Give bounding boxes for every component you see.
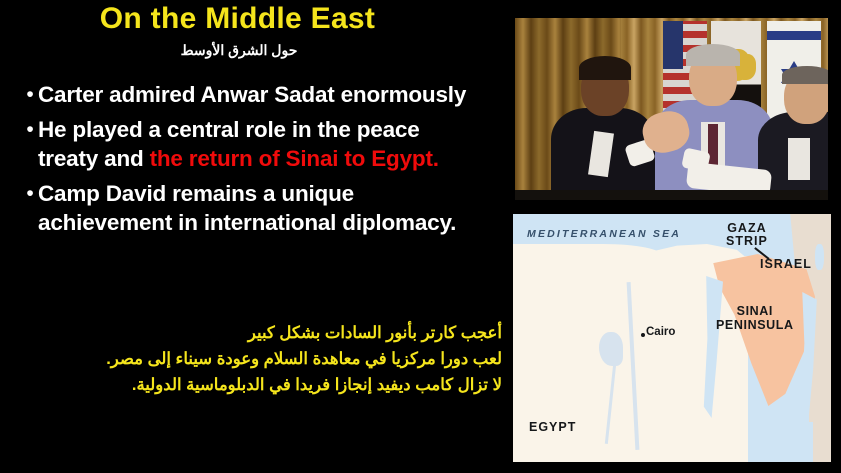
list-item: • Carter admired Anwar Sadat enormously (22, 80, 482, 109)
sadat-hair (579, 56, 631, 80)
map-egypt-coast-west (513, 244, 663, 274)
map-label-sinai-line1: SINAI (716, 304, 794, 318)
arabic-translation-block: أعجب كارتر بأنور السادات بشكل كبير لعب د… (0, 320, 502, 398)
carter-hair (686, 44, 740, 66)
map-lake-nasser (599, 332, 623, 366)
slide-title-arabic: حول الشرق الأوسط (0, 41, 478, 59)
map-label-sinai-peninsula: SINAI PENINSULA (716, 304, 794, 332)
bullet-1-segment-white: Carter admired Anwar Sadat enormously (38, 82, 466, 107)
bullet-3-segment-white: Camp David remains a unique achievement … (38, 181, 456, 235)
arabic-line-2: لعب دورا مركزيا في معاهدة السلام وعودة س… (0, 346, 502, 372)
map-label-gaza-line2: STRIP (726, 235, 768, 248)
bullet-list: • Carter admired Anwar Sadat enormously … (22, 80, 482, 243)
map-label-israel: ISRAEL (760, 258, 812, 271)
map-cairo-marker (641, 333, 645, 337)
map-label-mediterranean-sea: MEDITERRANEAN SEA (527, 228, 681, 241)
map-label-sinai-line2: PENINSULA (716, 318, 794, 332)
arabic-line-1: أعجب كارتر بأنور السادات بشكل كبير (0, 320, 502, 346)
photo-foreground-shadow (515, 190, 828, 200)
map-saudi-arabia-area (813, 390, 831, 462)
bullet-marker-icon: • (22, 115, 38, 144)
presentation-slide: On the Middle East حول الشرق الأوسط • Ca… (0, 0, 841, 473)
begin-shirt (788, 138, 810, 180)
map-label-cairo: Cairo (646, 326, 675, 339)
bullet-text-2: He played a central role in the peace tr… (38, 115, 482, 173)
bullet-text-3: Camp David remains a unique achievement … (38, 179, 482, 237)
bullet-2-segment-red: the return of Sinai to Egypt. (150, 146, 439, 171)
map-dead-sea (815, 244, 824, 270)
list-item: • He played a central role in the peace … (22, 115, 482, 173)
israel-flag-stripe-top (767, 31, 821, 40)
begin-hair (782, 66, 828, 84)
sinai-peninsula-map: MEDITERRANEAN SEA GAZA STRIP ISRAEL SINA… (513, 214, 831, 462)
figure-sadat (547, 52, 655, 200)
slide-title: On the Middle East (0, 2, 475, 36)
map-label-egypt: EGYPT (529, 421, 576, 434)
map-label-gaza-strip: GAZA STRIP (726, 222, 768, 248)
bullet-marker-icon: • (22, 179, 38, 208)
arabic-line-3: لا تزال كامب ديفيد إنجازا فريدا في الدبل… (0, 372, 502, 398)
list-item: • Camp David remains a unique achievemen… (22, 179, 482, 237)
bullet-marker-icon: • (22, 80, 38, 109)
bullet-text-1: Carter admired Anwar Sadat enormously (38, 80, 482, 109)
camp-david-handshake-photo (515, 18, 828, 200)
slide-text-column: On the Middle East حول الشرق الأوسط • Ca… (0, 0, 505, 473)
